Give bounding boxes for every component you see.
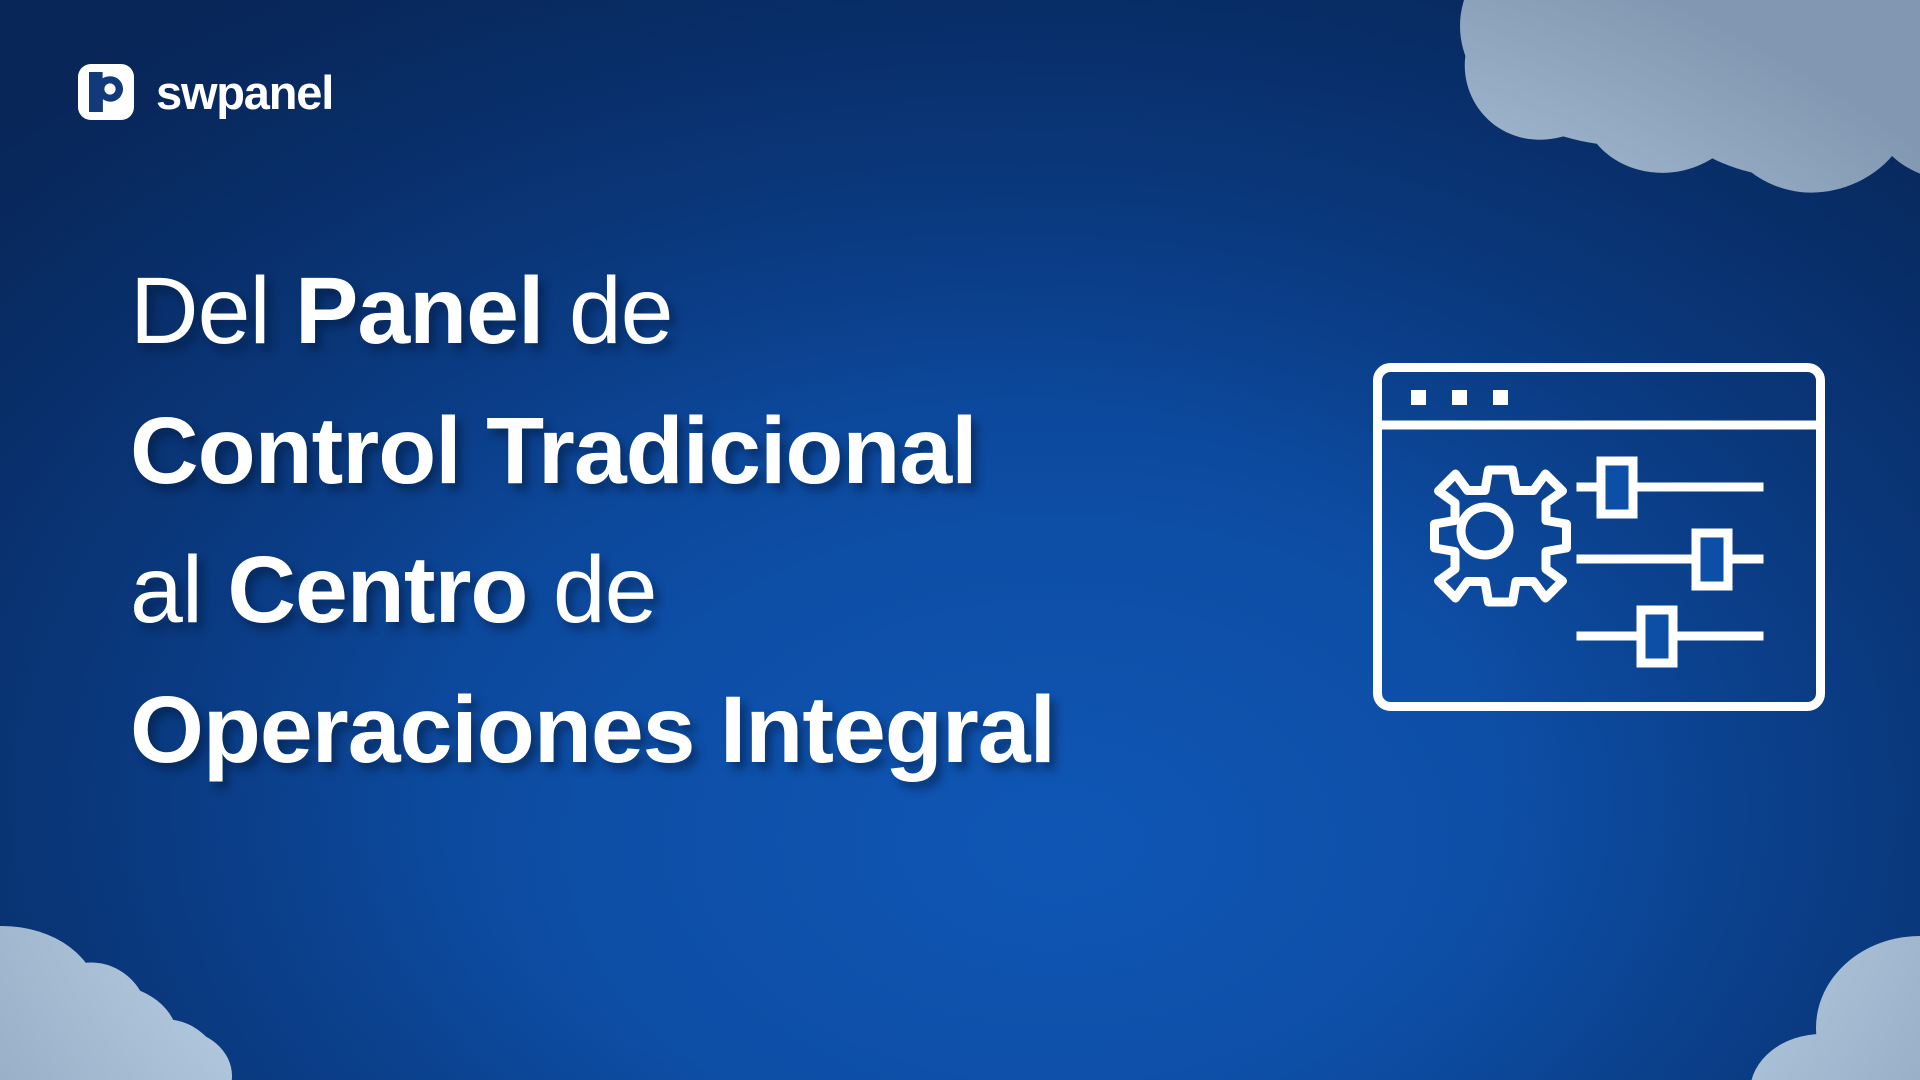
window-dot [1452, 390, 1467, 405]
swpanel-p-glyph-icon [78, 64, 134, 120]
headline-text-segment-bold: Centro [227, 537, 527, 643]
headline-text-segment: de [543, 258, 672, 364]
slider-3 [1581, 610, 1759, 663]
cloud-top-right [1330, 0, 1920, 216]
brand-name: swpanel [156, 69, 333, 116]
window-settings-sliders-icon [1373, 363, 1825, 711]
headline-line-3: al Centro de [130, 521, 1270, 661]
brand-logo[interactable]: swpanel [78, 64, 333, 120]
headline-text-segment: de [527, 537, 656, 643]
cloud-bottom-left [0, 890, 350, 1080]
window-dot [1493, 390, 1508, 405]
window-dot [1411, 390, 1426, 405]
headline-text-segment: al [130, 537, 227, 643]
gear-icon [1435, 470, 1567, 602]
window-frame [1378, 368, 1821, 707]
headline-text-segment-bold: Control Tradicional [130, 398, 977, 504]
slider-2 [1581, 533, 1759, 586]
headline-line-1: Del Panel de [130, 242, 1270, 382]
headline-text-segment-bold: Panel [295, 258, 543, 364]
page-title: Del Panel de Control Tradicional al Cent… [130, 242, 1270, 801]
headline-line-2: Control Tradicional [130, 382, 1270, 522]
headline-line-4: Operaciones Integral [130, 661, 1270, 801]
headline-text-segment-bold: Operaciones Integral [130, 677, 1055, 783]
slider-1 [1581, 461, 1759, 514]
headline-text-segment: Del [130, 258, 295, 364]
slide-canvas: swpanel Del Panel de Control Tradicional… [0, 0, 1920, 1080]
cloud-bottom-right [1590, 916, 1920, 1080]
